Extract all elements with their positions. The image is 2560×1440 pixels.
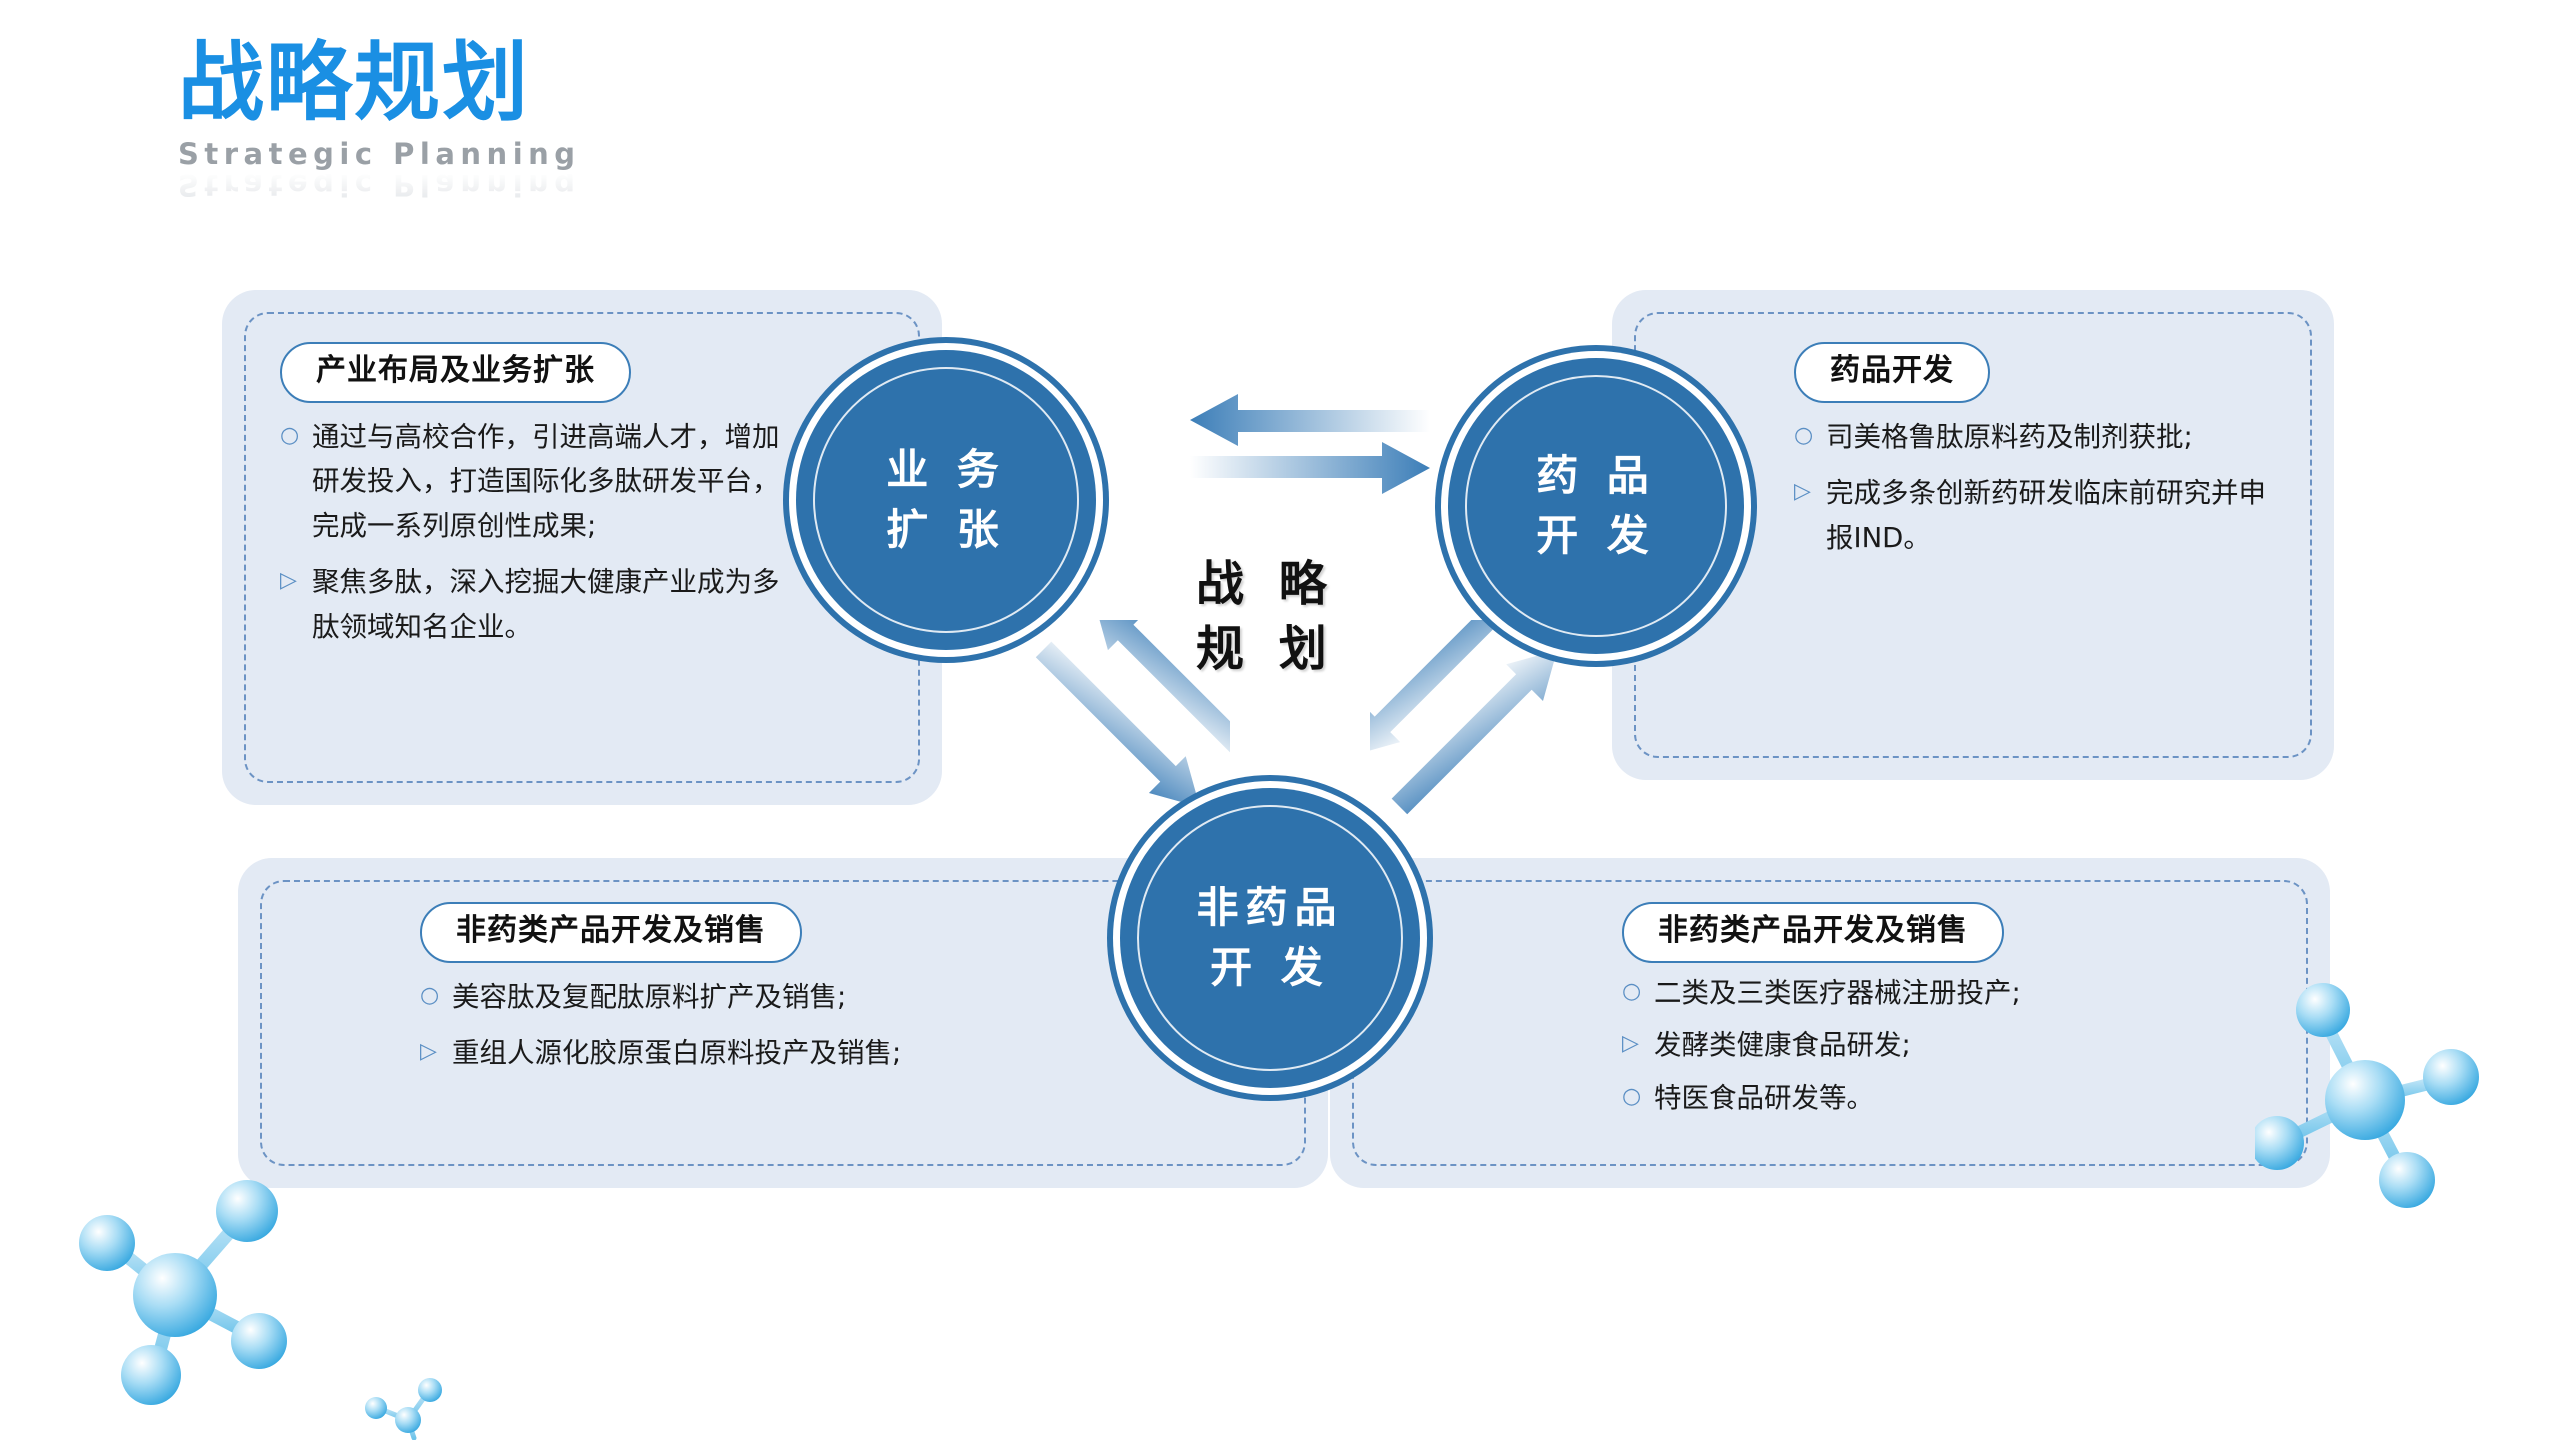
circle-bullet-icon: ○ — [1794, 415, 1820, 458]
circle-business-expansion[interactable]: 业 务 扩 张 — [796, 350, 1096, 650]
page-subtitle: Strategic Planning — [178, 140, 581, 169]
circle-bullet-icon: ○ — [1622, 971, 1648, 1014]
triangle-bullet-icon: ▷ — [1794, 471, 1820, 514]
center-strategy-label: 战 略 规 划 — [1196, 552, 1336, 682]
list-item: ○ 特医食品研发等。 — [1622, 1076, 2272, 1121]
list-item-text: 发酵类健康食品研发; — [1654, 1023, 2272, 1068]
panel-title-badge: 药品开发 — [1794, 342, 1990, 403]
list-item: ▷ 完成多条创新药研发临床前研究并申报IND。 — [1794, 471, 2276, 560]
circle-label-line1: 非药品 — [1196, 878, 1343, 938]
circle-label-line2: 扩 张 — [886, 500, 1006, 560]
triangle-bullet-icon: ▷ — [420, 1031, 446, 1074]
list-item: ▷ 重组人源化胶原蛋白原料投产及销售; — [420, 1031, 1270, 1076]
triangle-bullet-icon: ▷ — [1622, 1023, 1648, 1066]
panel-non-drug-products-right: 非药类产品开发及销售 ○ 二类及三类医疗器械注册投产; ▷ 发酵类健康食品研发;… — [1330, 858, 2330, 1188]
list-item-text: 完成多条创新药研发临床前研究并申报IND。 — [1826, 471, 2276, 560]
panel-title-badge: 非药类产品开发及销售 — [420, 902, 802, 963]
list-item-text: 司美格鲁肽原料药及制剂获批; — [1826, 415, 2276, 460]
list-item-text: 聚焦多肽，深入挖掘大健康产业成为多肽领域知名企业。 — [312, 560, 792, 649]
bullet-list: ○ 司美格鲁肽原料药及制剂获批; ▷ 完成多条创新药研发临床前研究并申报IND。 — [1794, 415, 2276, 561]
list-item: ○ 二类及三类医疗器械注册投产; — [1622, 971, 2272, 1016]
page-subtitle-wrap: Strategic Planning Strategic Planning — [178, 140, 581, 196]
circle-bullet-icon: ○ — [280, 415, 306, 458]
center-label-line1: 战 略 — [1196, 552, 1336, 617]
circle-label-line1: 药 品 — [1536, 446, 1656, 506]
double-arrow-horizontal-icon — [1180, 390, 1440, 500]
page-header: 战略规划 Strategic Planning Strategic Planni… — [178, 40, 581, 196]
circle-bullet-icon: ○ — [420, 975, 446, 1018]
molecule-icon — [352, 1368, 462, 1440]
slide-canvas: 战略规划 Strategic Planning Strategic Planni… — [0, 0, 2560, 1440]
bullet-list: ○ 二类及三类医疗器械注册投产; ▷ 发酵类健康食品研发; ○ 特医食品研发等。 — [1372, 971, 2272, 1121]
list-item-text: 通过与高校合作，引进高端人才，增加研发投入，打造国际化多肽研发平台，完成一系列原… — [312, 415, 792, 549]
list-item: ○ 司美格鲁肽原料药及制剂获批; — [1794, 415, 2276, 460]
circle-non-drug-development[interactable]: 非药品 开 发 — [1120, 788, 1420, 1088]
circle-label: 业 务 扩 张 — [886, 440, 1006, 559]
circle-label: 药 品 开 发 — [1536, 446, 1656, 565]
bullet-list: ○ 通过与高校合作，引进高端人才，增加研发投入，打造国际化多肽研发平台，完成一系… — [280, 415, 884, 650]
list-item: ▷ 发酵类健康食品研发; — [1622, 1023, 2272, 1068]
circle-label-line1: 业 务 — [886, 440, 1006, 500]
molecule-icon — [55, 1175, 315, 1425]
list-item: ○ 通过与高校合作，引进高端人才，增加研发投入，打造国际化多肽研发平台，完成一系… — [280, 415, 884, 549]
center-label-line2: 规 划 — [1196, 617, 1336, 682]
circle-label-line2: 开 发 — [1196, 938, 1343, 998]
list-item-text: 二类及三类医疗器械注册投产; — [1654, 971, 2272, 1016]
panel-title-badge: 产业布局及业务扩张 — [280, 342, 631, 403]
circle-bullet-icon: ○ — [1622, 1076, 1648, 1119]
list-item-text: 重组人源化胶原蛋白原料投产及销售; — [452, 1031, 1270, 1076]
panel-content: 非药类产品开发及销售 ○ 二类及三类医疗器械注册投产; ▷ 发酵类健康食品研发;… — [1352, 880, 2308, 1166]
molecule-icon — [2255, 975, 2505, 1220]
circle-label-line2: 开 发 — [1536, 506, 1656, 566]
triangle-bullet-icon: ▷ — [280, 560, 306, 603]
panel-title-badge: 非药类产品开发及销售 — [1622, 902, 2004, 963]
list-item-text: 特医食品研发等。 — [1654, 1076, 2272, 1121]
circle-drug-development[interactable]: 药 品 开 发 — [1448, 358, 1744, 654]
double-arrow-diagonal-right-icon — [1370, 620, 1600, 850]
circle-label: 非药品 开 发 — [1196, 878, 1343, 997]
page-subtitle-reflection: Strategic Planning — [178, 170, 581, 199]
page-title: 战略规划 — [178, 40, 581, 126]
list-item: ▷ 聚焦多肽，深入挖掘大健康产业成为多肽领域知名企业。 — [280, 560, 884, 649]
